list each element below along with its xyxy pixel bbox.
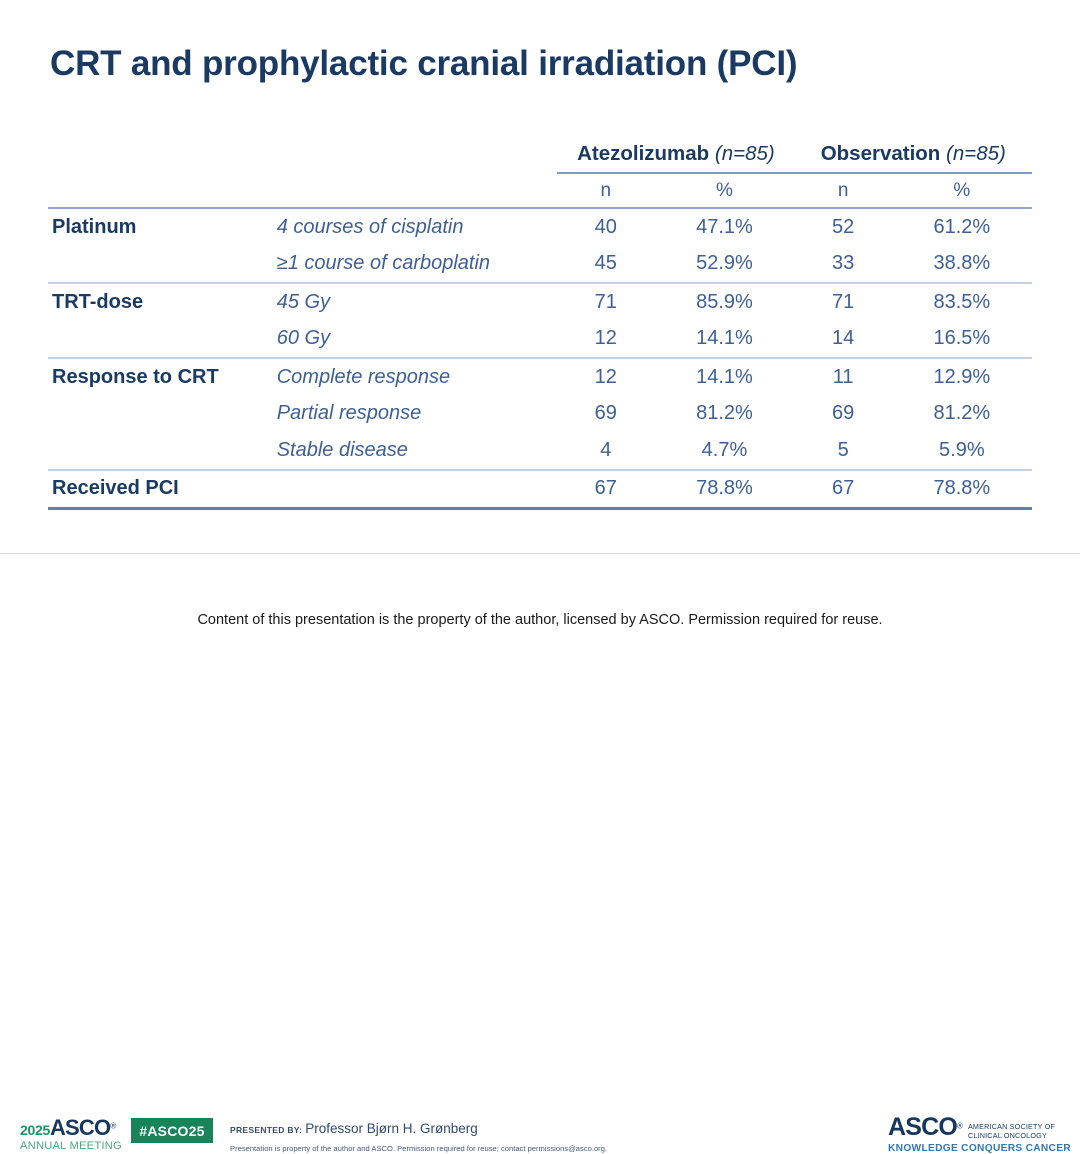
table-bottom-rule bbox=[48, 507, 1032, 510]
table-group-header-row: Atezolizumab (n=85) Observation (n=85) bbox=[48, 136, 1032, 172]
subheader-obs-n: n bbox=[795, 174, 892, 207]
society-name-line1: AMERICAN SOCIETY OF bbox=[968, 1122, 1055, 1131]
group-name: Observation bbox=[821, 142, 941, 165]
registered-mark-icon: ® bbox=[110, 1122, 116, 1131]
row-sublabel: Stable disease bbox=[277, 432, 558, 469]
copyright-fine-print: Presentation is property of the author a… bbox=[230, 1144, 650, 1153]
cell-atezo-n: 69 bbox=[557, 396, 654, 433]
cell-obs-n: 69 bbox=[795, 396, 892, 433]
cell-atezo-n: 4 bbox=[557, 432, 654, 469]
cell-atezo-pct: 14.1% bbox=[654, 321, 794, 358]
table-subheader-row: n % n % bbox=[48, 174, 1032, 207]
cell-obs-pct: 16.5% bbox=[892, 321, 1032, 358]
table-row: Stable disease 4 4.7% 5 5.9% bbox=[48, 432, 1032, 469]
cell-atezo-pct: 47.1% bbox=[654, 209, 794, 246]
row-sublabel: 4 courses of cisplatin bbox=[277, 209, 558, 246]
cell-obs-pct: 12.9% bbox=[892, 359, 1032, 396]
presented-by-label: PRESENTED BY: bbox=[230, 1125, 302, 1135]
registered-mark-icon: ® bbox=[957, 1122, 963, 1131]
cell-obs-n: 33 bbox=[795, 246, 892, 283]
page-title: CRT and prophylactic cranial irradiation… bbox=[50, 44, 797, 84]
cell-obs-n: 5 bbox=[795, 432, 892, 469]
subheader-obs-pct: % bbox=[892, 174, 1032, 207]
group-name: Atezolizumab bbox=[577, 142, 709, 165]
cell-atezo-pct: 4.7% bbox=[654, 432, 794, 469]
asco-society-logo: ASCO®AMERICAN SOCIETY OFCLINICAL ONCOLOG… bbox=[888, 1115, 1064, 1154]
row-sublabel bbox=[277, 471, 558, 508]
cell-obs-pct: 83.5% bbox=[892, 284, 1032, 321]
cell-obs-n: 11 bbox=[795, 359, 892, 396]
logo-primary-line: 2025ASCO® bbox=[20, 1117, 124, 1139]
row-sublabel: 60 Gy bbox=[277, 321, 558, 358]
cell-atezo-n: 67 bbox=[557, 471, 654, 508]
logo-primary-line: ASCO®AMERICAN SOCIETY OFCLINICAL ONCOLOG… bbox=[888, 1115, 1064, 1140]
table-row: Platinum 4 courses of cisplatin 40 47.1%… bbox=[48, 209, 1032, 246]
logo-year: 2025 bbox=[20, 1122, 50, 1138]
subheader-atezo-pct: % bbox=[654, 174, 794, 207]
table-row: Partial response 69 81.2% 69 81.2% bbox=[48, 396, 1032, 433]
column-group-atezolizumab: Atezolizumab (n=85) bbox=[557, 136, 794, 172]
slide-canvas: CRT and prophylactic cranial irradiation… bbox=[0, 0, 1080, 605]
hashtag-badge: #ASCO25 bbox=[131, 1118, 213, 1143]
cell-obs-pct: 78.8% bbox=[892, 471, 1032, 508]
spacer-cell bbox=[277, 136, 558, 172]
row-category bbox=[48, 246, 277, 283]
row-category: Response to CRT bbox=[48, 359, 277, 396]
cell-obs-n: 67 bbox=[795, 471, 892, 508]
cell-obs-n: 71 bbox=[795, 284, 892, 321]
results-table: Atezolizumab (n=85) Observation (n=85) n… bbox=[48, 136, 1032, 510]
row-sublabel: Partial response bbox=[277, 396, 558, 433]
subheader-atezo-n: n bbox=[557, 174, 654, 207]
cell-atezo-n: 12 bbox=[557, 359, 654, 396]
row-category bbox=[48, 396, 277, 433]
column-group-observation: Observation (n=85) bbox=[795, 136, 1032, 172]
row-category bbox=[48, 321, 277, 358]
presented-by-line: PRESENTED BY:Professor Bjørn H. Grønberg bbox=[230, 1120, 650, 1138]
cell-atezo-n: 12 bbox=[557, 321, 654, 358]
row-category: Platinum bbox=[48, 209, 277, 246]
presenter-block: PRESENTED BY:Professor Bjørn H. Grønberg… bbox=[230, 1120, 650, 1153]
logo-tagline: KNOWLEDGE CONQUERS CANCER bbox=[888, 1144, 1064, 1154]
table-row: Response to CRT Complete response 12 14.… bbox=[48, 359, 1032, 396]
table-row: 60 Gy 12 14.1% 14 16.5% bbox=[48, 321, 1032, 358]
table-row: TRT-dose 45 Gy 71 85.9% 71 83.5% bbox=[48, 284, 1032, 321]
spacer-cell bbox=[48, 136, 277, 172]
society-name-line2: CLINICAL ONCOLOGY bbox=[968, 1131, 1047, 1140]
logo-brand: ASCO bbox=[50, 1115, 110, 1140]
cell-atezo-pct: 85.9% bbox=[654, 284, 794, 321]
table-row: ≥1 course of carboplatin 45 52.9% 33 38.… bbox=[48, 246, 1032, 283]
cell-obs-pct: 38.8% bbox=[892, 246, 1032, 283]
slide-footer: 2025ASCO® ANNUAL MEETING #ASCO25 PRESENT… bbox=[0, 554, 1080, 605]
asco-annual-meeting-logo: 2025ASCO® ANNUAL MEETING bbox=[20, 1117, 124, 1152]
cell-atezo-pct: 78.8% bbox=[654, 471, 794, 508]
row-sublabel: ≥1 course of carboplatin bbox=[277, 246, 558, 283]
cell-atezo-n: 45 bbox=[557, 246, 654, 283]
cell-atezo-n: 40 bbox=[557, 209, 654, 246]
bottom-caption: Content of this presentation is the prop… bbox=[0, 612, 1080, 628]
cell-atezo-n: 71 bbox=[557, 284, 654, 321]
cell-obs-pct: 5.9% bbox=[892, 432, 1032, 469]
logo-brand: ASCO bbox=[888, 1113, 957, 1141]
row-category: Received PCI bbox=[48, 471, 277, 508]
presenter-name: Professor Bjørn H. Grønberg bbox=[305, 1121, 478, 1136]
cell-obs-n: 14 bbox=[795, 321, 892, 358]
spacer-cell bbox=[277, 174, 558, 207]
cell-atezo-pct: 14.1% bbox=[654, 359, 794, 396]
logo-tagline: ANNUAL MEETING bbox=[20, 1141, 124, 1152]
group-n: (n=85) bbox=[946, 142, 1006, 165]
row-sublabel: 45 Gy bbox=[277, 284, 558, 321]
row-category bbox=[48, 432, 277, 469]
spacer-cell bbox=[48, 174, 277, 207]
cell-obs-pct: 81.2% bbox=[892, 396, 1032, 433]
cell-atezo-pct: 52.9% bbox=[654, 246, 794, 283]
rule bbox=[48, 507, 1032, 510]
table-row: Received PCI 67 78.8% 67 78.8% bbox=[48, 471, 1032, 508]
row-sublabel: Complete response bbox=[277, 359, 558, 396]
group-n: (n=85) bbox=[715, 142, 775, 165]
society-name: AMERICAN SOCIETY OFCLINICAL ONCOLOGY bbox=[968, 1122, 1055, 1140]
cell-obs-n: 52 bbox=[795, 209, 892, 246]
row-category: TRT-dose bbox=[48, 284, 277, 321]
cell-atezo-pct: 81.2% bbox=[654, 396, 794, 433]
cell-obs-pct: 61.2% bbox=[892, 209, 1032, 246]
